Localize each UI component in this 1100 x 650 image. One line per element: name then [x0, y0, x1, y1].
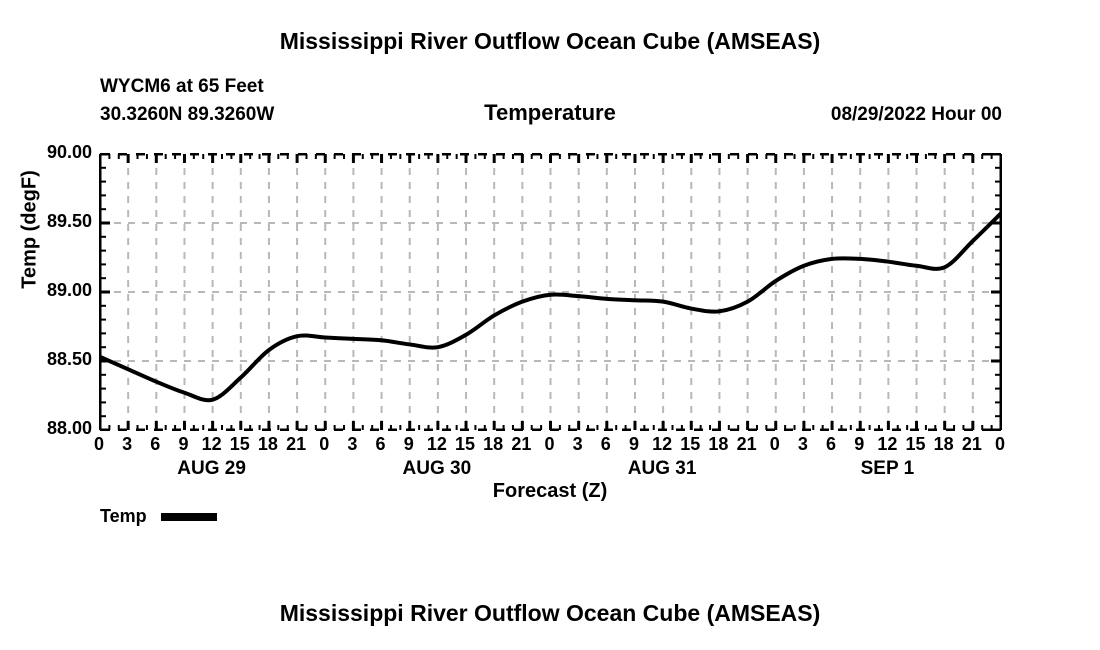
x-tick-label: 21: [281, 434, 311, 455]
x-tick-label: 6: [591, 434, 621, 455]
x-tick-label: 0: [535, 434, 565, 455]
x-day-label: AUG 29: [132, 458, 292, 480]
x-tick-label: 0: [309, 434, 339, 455]
x-tick-label: 18: [703, 434, 733, 455]
x-day-label: AUG 31: [582, 458, 742, 480]
x-tick-label: 15: [675, 434, 705, 455]
x-tick-label: 15: [450, 434, 480, 455]
x-tick-label: 21: [957, 434, 987, 455]
x-tick-label: 3: [337, 434, 367, 455]
x-tick-label: 6: [366, 434, 396, 455]
x-tick-label: 3: [563, 434, 593, 455]
legend: Temp: [100, 506, 217, 527]
x-tick-label: 9: [394, 434, 424, 455]
x-tick-label: 21: [506, 434, 536, 455]
y-tick-label: 88.50: [47, 349, 92, 370]
x-tick-label: 9: [168, 434, 198, 455]
footer-title: Mississippi River Outflow Ocean Cube (AM…: [0, 600, 1100, 627]
x-tick-label: 9: [619, 434, 649, 455]
x-day-label: SEP 1: [807, 458, 967, 480]
x-tick-label: 21: [732, 434, 762, 455]
legend-label-temp: Temp: [100, 506, 147, 527]
x-tick-label: 6: [816, 434, 846, 455]
chart-page: Mississippi River Outflow Ocean Cube (AM…: [0, 0, 1100, 650]
x-tick-label: 15: [901, 434, 931, 455]
x-tick-label: 9: [844, 434, 874, 455]
x-tick-label: 0: [760, 434, 790, 455]
y-tick-label: 90.00: [47, 142, 92, 163]
y-axis-tick-labels: 88.0088.5089.0089.5090.00: [0, 0, 92, 650]
forecast-datestamp: 08/29/2022 Hour 00: [831, 104, 1002, 126]
x-tick-label: 18: [478, 434, 508, 455]
x-tick-label: 0: [84, 434, 114, 455]
x-tick-label: 3: [112, 434, 142, 455]
page-title: Mississippi River Outflow Ocean Cube (AM…: [0, 28, 1100, 55]
x-day-label: AUG 30: [357, 458, 517, 480]
x-tick-label: 6: [140, 434, 170, 455]
x-tick-label: 18: [929, 434, 959, 455]
chart-canvas: [99, 153, 1002, 431]
x-tick-label: 15: [225, 434, 255, 455]
x-tick-label: 3: [788, 434, 818, 455]
plot-area: [99, 153, 1000, 429]
x-tick-label: 12: [872, 434, 902, 455]
x-tick-label: 18: [253, 434, 283, 455]
x-tick-label: 12: [647, 434, 677, 455]
y-tick-label: 89.00: [47, 280, 92, 301]
x-axis-label: Forecast (Z): [0, 480, 1100, 503]
x-tick-label: 12: [197, 434, 227, 455]
station-depth-label: WYCM6 at 65 Feet: [100, 76, 264, 98]
x-tick-label: 0: [985, 434, 1015, 455]
y-tick-label: 89.50: [47, 211, 92, 232]
legend-swatch-temp: [161, 513, 217, 521]
x-tick-label: 12: [422, 434, 452, 455]
